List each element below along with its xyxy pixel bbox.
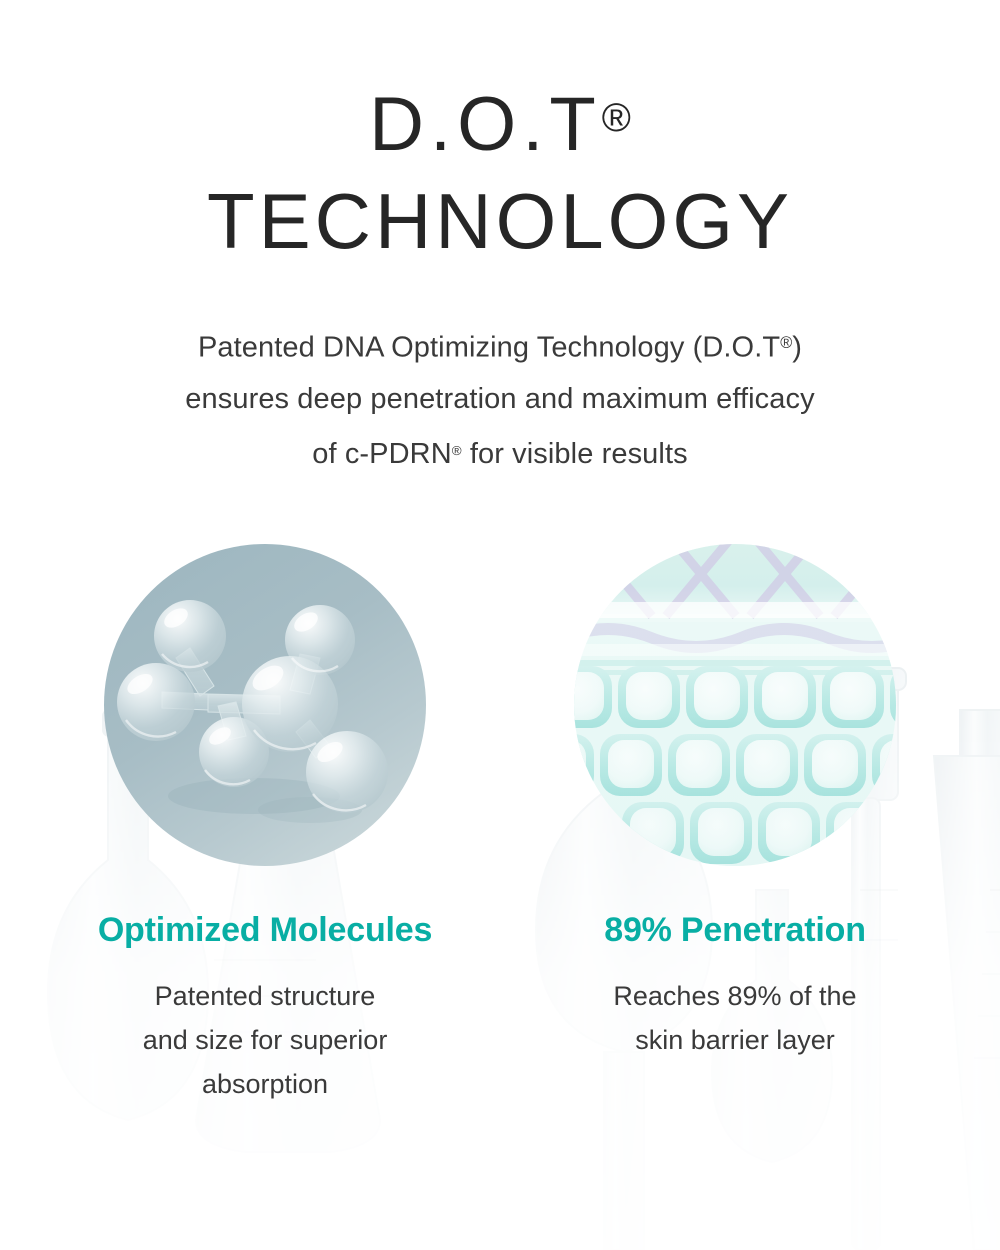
page-title-text: D.O.T [369, 82, 602, 167]
feature-heading-penetration: 89% Penetration [604, 910, 866, 950]
feature-description-optimized-molecules: Patented structure and size for superior… [143, 974, 388, 1106]
feature-description-line-3: absorption [143, 1062, 388, 1106]
dot-technology-page: D.O.T® TECHNOLOGY Patented DNA Optimizin… [0, 0, 1000, 1250]
feature-column-penetration: 89% Penetration Reaches 89% of the skin … [574, 544, 896, 1106]
registered-trademark-icon: ® [780, 334, 792, 352]
feature-columns: Optimized Molecules Patented structure a… [0, 544, 1000, 1106]
subtitle-line-1-text-a: Patented DNA Optimizing Technology (D.O.… [198, 331, 780, 363]
feature-heading-optimized-molecules: Optimized Molecules [98, 910, 432, 950]
feature-description-line-1: Patented structure [143, 974, 388, 1018]
registered-trademark-icon: ® [452, 443, 462, 458]
subtitle-line-3-text-b: for visible results [462, 438, 688, 470]
skin-barrier-penetration-image [574, 544, 896, 866]
feature-description-line-1: Reaches 89% of the [613, 974, 856, 1018]
subtitle-line-1: Patented DNA Optimizing Technology (D.O.… [0, 317, 1000, 373]
subtitle-line-2: ensures deep penetration and maximum eff… [0, 373, 1000, 425]
feature-description-line-2: and size for superior [143, 1018, 388, 1062]
feature-description-line-2: skin barrier layer [613, 1018, 856, 1062]
optimized-molecules-image [104, 544, 426, 866]
page-subtitle: Patented DNA Optimizing Technology (D.O.… [0, 317, 1000, 480]
subtitle-line-3-text-a: of c-PDRN [312, 438, 451, 470]
feature-column-optimized-molecules: Optimized Molecules Patented structure a… [104, 544, 426, 1106]
page-title: D.O.T® TECHNOLOGY [0, 0, 1000, 261]
subtitle-line-1-text-b: ) [792, 331, 802, 363]
page-title-line-2: TECHNOLOGY [0, 181, 1000, 261]
registered-trademark-icon: ® [602, 96, 631, 140]
page-title-line-1: D.O.T® [0, 78, 1000, 165]
subtitle-line-3: of c-PDRN® for visible results [0, 425, 1000, 480]
feature-description-penetration: Reaches 89% of the skin barrier layer [613, 974, 856, 1062]
